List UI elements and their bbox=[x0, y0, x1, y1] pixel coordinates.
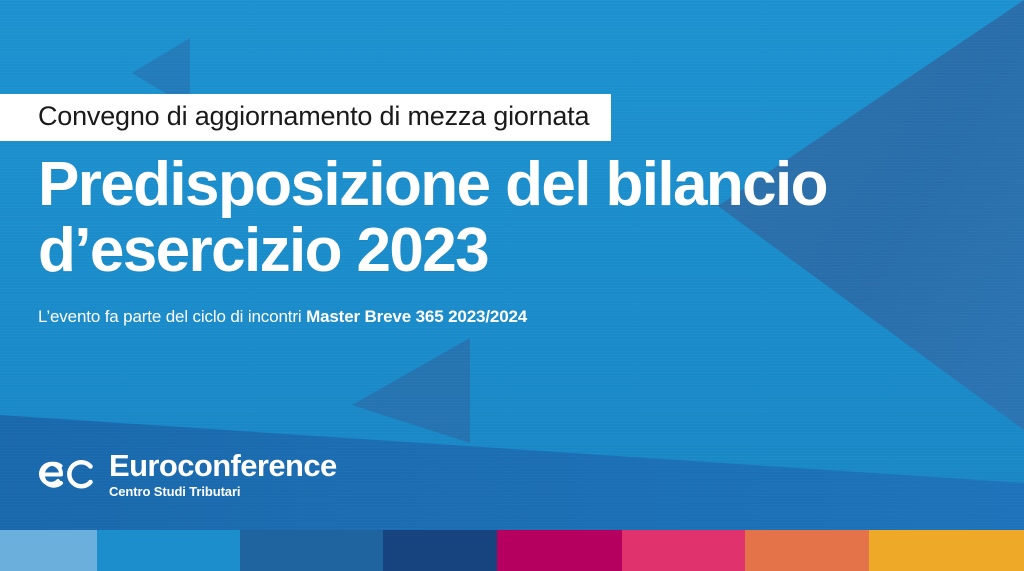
subtitle: L’evento fa parte del ciclo di incontri … bbox=[38, 307, 527, 327]
color-strip-segment-medium-blue bbox=[240, 530, 383, 571]
brand-logo: Euroconference Centro Studi Tributari bbox=[38, 450, 337, 498]
color-strip-segment-light-blue bbox=[0, 530, 97, 571]
logo-company-name: Euroconference bbox=[109, 450, 337, 481]
event-banner: Convegno di aggiornamento di mezza giorn… bbox=[0, 0, 1024, 571]
headline-line-1: Predisposizione del bilancio bbox=[38, 152, 938, 218]
subtitle-prefix: L’evento fa parte del ciclo di incontri bbox=[38, 307, 306, 326]
color-strip-segment-orange bbox=[745, 530, 869, 571]
logo-text-block: Euroconference Centro Studi Tributari bbox=[109, 450, 337, 498]
logo-tagline: Centro Studi Tributari bbox=[109, 485, 337, 498]
brand-color-strip bbox=[0, 530, 1024, 571]
ec-monogram-icon bbox=[38, 453, 98, 495]
subtitle-series-name: Master Breve 365 2023/2024 bbox=[306, 307, 527, 326]
kicker-label: Convegno di aggiornamento di mezza giorn… bbox=[0, 94, 611, 141]
color-strip-segment-pink bbox=[622, 530, 745, 571]
color-strip-segment-navy bbox=[383, 530, 497, 571]
color-strip-segment-magenta bbox=[497, 530, 622, 571]
color-strip-segment-blue bbox=[97, 530, 240, 571]
page-title: Predisposizione del bilancio d’esercizio… bbox=[38, 152, 938, 283]
banner-content: Convegno di aggiornamento di mezza giorn… bbox=[0, 0, 1024, 530]
kicker-banner: Convegno di aggiornamento di mezza giorn… bbox=[0, 95, 611, 139]
color-strip-segment-yellow bbox=[869, 530, 1024, 571]
headline-line-2: d’esercizio 2023 bbox=[38, 218, 938, 284]
